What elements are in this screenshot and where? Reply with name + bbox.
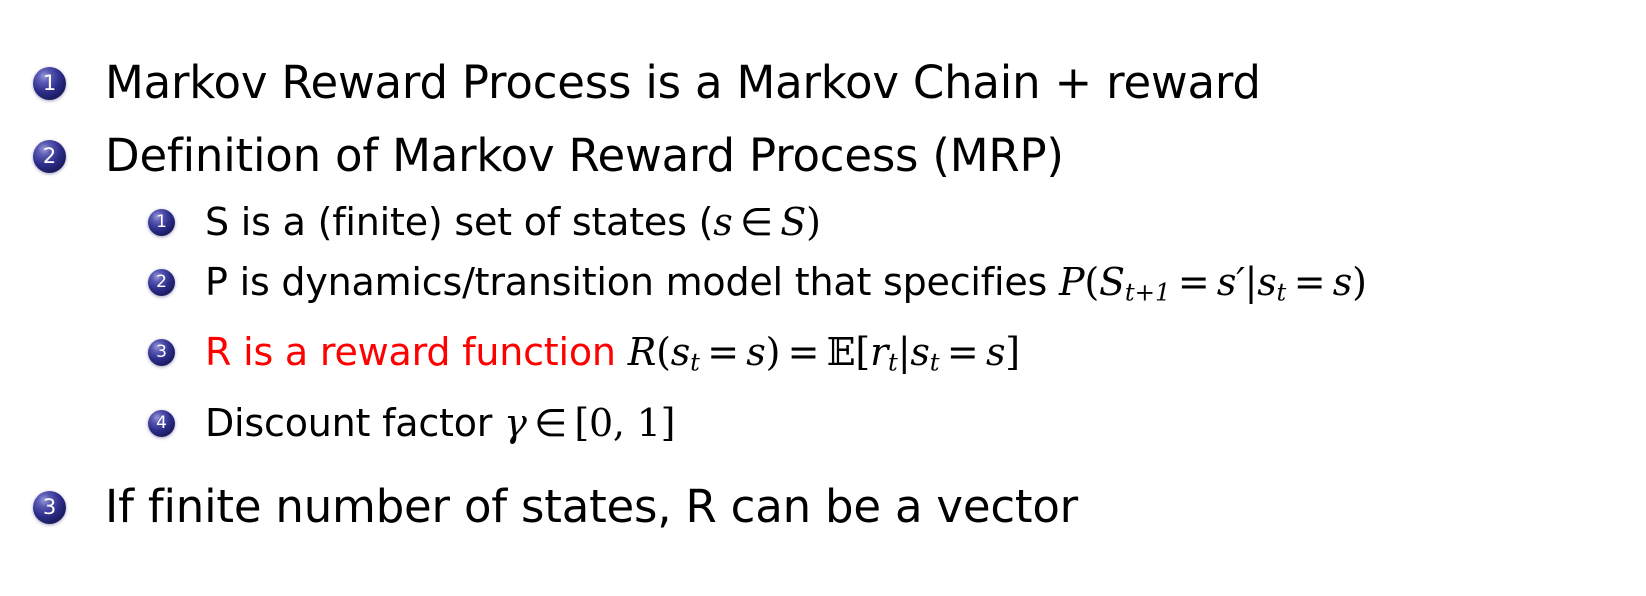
bullet-marker-2-3: 3 — [148, 339, 175, 366]
math-paren-open: ( — [656, 330, 671, 374]
math-variable-S: S — [780, 200, 806, 244]
math-paren-close: ) — [766, 330, 781, 374]
math-variable-s: s — [746, 330, 765, 374]
outline-subitem-text: P is dynamics/transition model that spec… — [205, 252, 1646, 322]
math-conditional-bar: | — [1245, 260, 1258, 304]
math-variable-S: S — [1099, 260, 1125, 304]
list-item: 3 R is a reward function R(st = s) = 𝔼[r… — [0, 322, 1646, 392]
outline-list: 1 Markov Reward Process is a Markov Chai… — [0, 47, 1646, 543]
math-variable-P: P — [1059, 260, 1084, 304]
list-item: 4 Discount factor γ ∈ [0, 1] — [0, 393, 1646, 453]
outline-subitem-text: S is a (finite) set of states (s ∈ S) — [205, 192, 1646, 252]
outline-subitem-text: R is a reward function R(st = s) = 𝔼[rt|… — [205, 322, 1646, 392]
highlighted-reward-function-text: R is a reward function — [205, 330, 616, 374]
math-variable-s: s — [1333, 260, 1352, 304]
outline-row-level2: 2 P is dynamics/transition model that sp… — [0, 252, 1646, 322]
bullet-marker-2-4: 4 — [148, 410, 175, 437]
subitem-tail-text: ) — [806, 200, 821, 244]
math-equals-sign: = — [788, 330, 820, 374]
subitem-lead-text: S is a (finite) set of states ( — [205, 200, 713, 244]
outline-row-level2: 1 S is a (finite) set of states (s ∈ S) — [0, 192, 1646, 252]
math-variable-s: s — [910, 330, 929, 374]
math-variable-s-prime: s′ — [1217, 260, 1245, 304]
math-equals-sign: = — [1294, 260, 1326, 304]
math-paren-open: ( — [1084, 260, 1099, 304]
outline-item-text: Markov Reward Process is a Markov Chain … — [105, 47, 1646, 119]
outline-subitem-text: Discount factor γ ∈ [0, 1] — [205, 393, 1646, 453]
math-subscript-t: t — [690, 348, 700, 377]
bullet-marker-3: 3 — [33, 491, 66, 524]
math-variable-s: s — [1257, 260, 1276, 304]
list-item: 2 P is dynamics/transition model that sp… — [0, 252, 1646, 322]
math-element-of-symbol: ∈ — [534, 401, 567, 445]
outline-row-level1: 1 Markov Reward Process is a Markov Chai… — [0, 47, 1646, 120]
outline-item-text: Definition of Markov Reward Process (MRP… — [105, 120, 1646, 192]
bullet-marker-2-1: 1 — [148, 209, 175, 236]
math-bracket-close: ] — [1005, 330, 1020, 374]
slide-body: 1 Markov Reward Process is a Markov Chai… — [0, 0, 1646, 596]
math-variable-R: R — [628, 330, 656, 374]
math-gamma-symbol: γ — [504, 401, 527, 445]
math-subscript-t-plus-1: t+1 — [1125, 277, 1171, 306]
math-expectation-operator: 𝔼 — [827, 330, 856, 374]
math-paren-close: ) — [1352, 260, 1367, 304]
math-element-of-symbol: ∈ — [740, 200, 773, 244]
math-variable-r: r — [870, 330, 888, 374]
bullet-marker-2: 2 — [33, 140, 66, 173]
outline-sublist: 1 S is a (finite) set of states (s ∈ S) … — [0, 192, 1646, 453]
math-expression-transition: P(St+1 = s′|st = s) — [1059, 260, 1367, 304]
math-bracket-open: [ — [855, 330, 870, 374]
math-expression-reward: R(st = s) = 𝔼[rt|st = s] — [628, 330, 1020, 374]
math-variable-s: s — [671, 330, 690, 374]
outline-row-level2: 3 R is a reward function R(st = s) = 𝔼[r… — [0, 322, 1646, 392]
list-item: 1 Markov Reward Process is a Markov Chai… — [0, 47, 1646, 120]
list-item: 1 S is a (finite) set of states (s ∈ S) — [0, 192, 1646, 252]
math-subscript-t: t — [1277, 277, 1287, 306]
math-subscript-t: t — [930, 348, 940, 377]
outline-row-level1: 2 Definition of Markov Reward Process (M… — [0, 120, 1646, 192]
math-conditional-bar: | — [898, 330, 911, 374]
math-equals-sign: = — [707, 330, 739, 374]
outline-row-level1: 3 If finite number of states, R can be a… — [0, 471, 1646, 543]
math-equals-sign: = — [947, 330, 979, 374]
math-variable-s: s — [713, 200, 732, 244]
bullet-marker-1: 1 — [33, 67, 66, 100]
math-variable-s: s — [986, 330, 1005, 374]
bullet-marker-2-2: 2 — [148, 269, 175, 296]
outline-item-text: If finite number of states, R can be a v… — [105, 471, 1646, 543]
math-interval-range: [0, 1] — [574, 401, 675, 445]
math-equals-sign: = — [1178, 260, 1210, 304]
list-item: 3 If finite number of states, R can be a… — [0, 471, 1646, 543]
math-subscript-t: t — [888, 348, 898, 377]
list-item: 2 Definition of Markov Reward Process (M… — [0, 120, 1646, 453]
subitem-lead-text: Discount factor — [205, 401, 504, 445]
outline-row-level2: 4 Discount factor γ ∈ [0, 1] — [0, 393, 1646, 453]
subitem-lead-text: P is dynamics/transition model that spec… — [205, 260, 1059, 304]
